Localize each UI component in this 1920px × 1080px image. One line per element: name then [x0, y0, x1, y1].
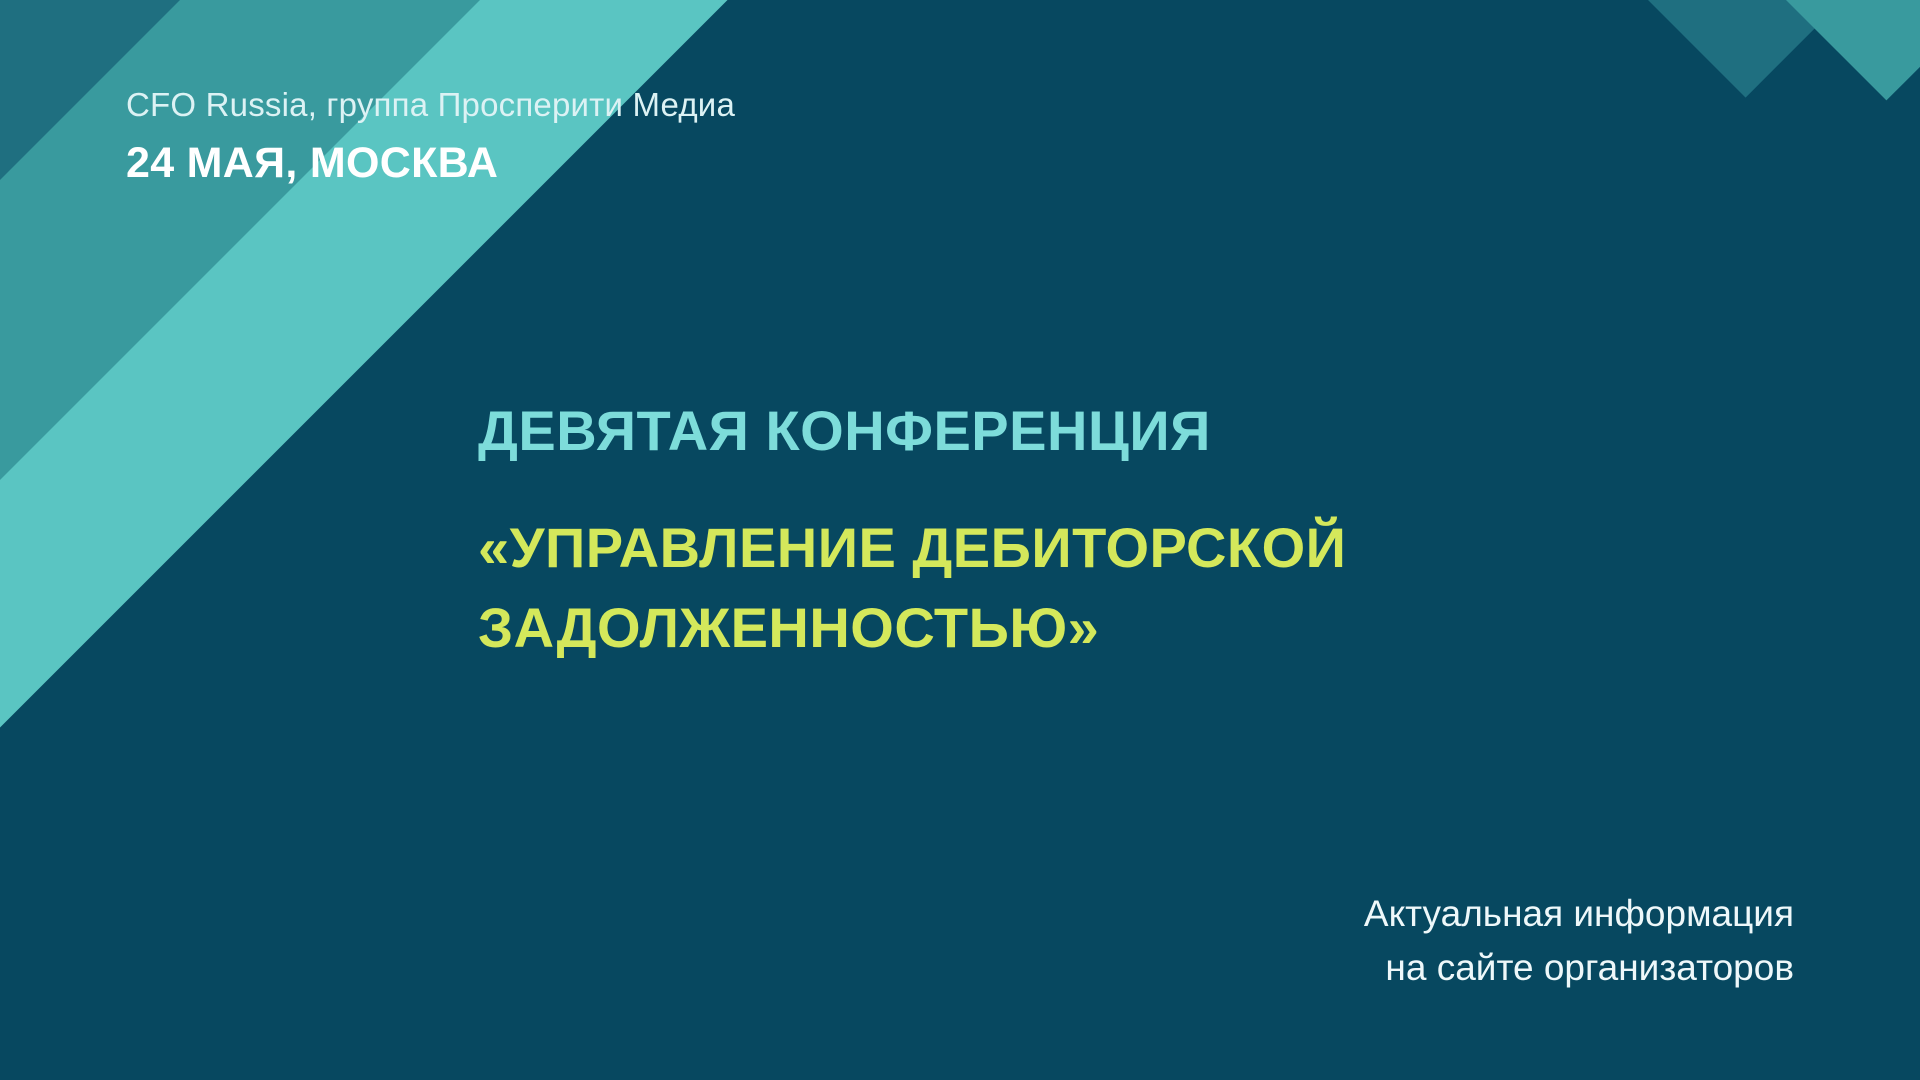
conference-name-line-2: ЗАДОЛЖЕННОСТЬЮ» — [478, 588, 1638, 668]
footnote-line-1: Актуальная информация — [1364, 887, 1794, 942]
stripe-top-right-dark-teal — [1648, 0, 1920, 98]
conference-title-slide: CFO Russia, группа Просперити Медиа 24 М… — [0, 0, 1920, 1080]
footnote-block: Актуальная информация на сайте организат… — [1364, 887, 1794, 997]
conference-name-line-1: «УПРАВЛЕНИЕ ДЕБИТОРСКОЙ — [478, 516, 1346, 579]
stripe-top-right-mid-teal — [1786, 0, 1920, 100]
organizer-name: CFO Russia, группа Просперити Медиа — [126, 84, 735, 125]
conference-name: «УПРАВЛЕНИЕ ДЕБИТОРСКОЙ ЗАДОЛЖЕННОСТЬЮ» — [478, 508, 1638, 667]
organizer-header: CFO Russia, группа Просперити Медиа 24 М… — [126, 84, 735, 191]
event-date-location: 24 МАЯ, МОСКВА — [126, 137, 735, 191]
conference-title-block: ДЕВЯТАЯ КОНФЕРЕНЦИЯ «УПРАВЛЕНИЕ ДЕБИТОРС… — [478, 398, 1638, 667]
footnote-line-2: на сайте организаторов — [1364, 941, 1794, 996]
conference-ordinal-kicker: ДЕВЯТАЯ КОНФЕРЕНЦИЯ — [478, 398, 1638, 464]
